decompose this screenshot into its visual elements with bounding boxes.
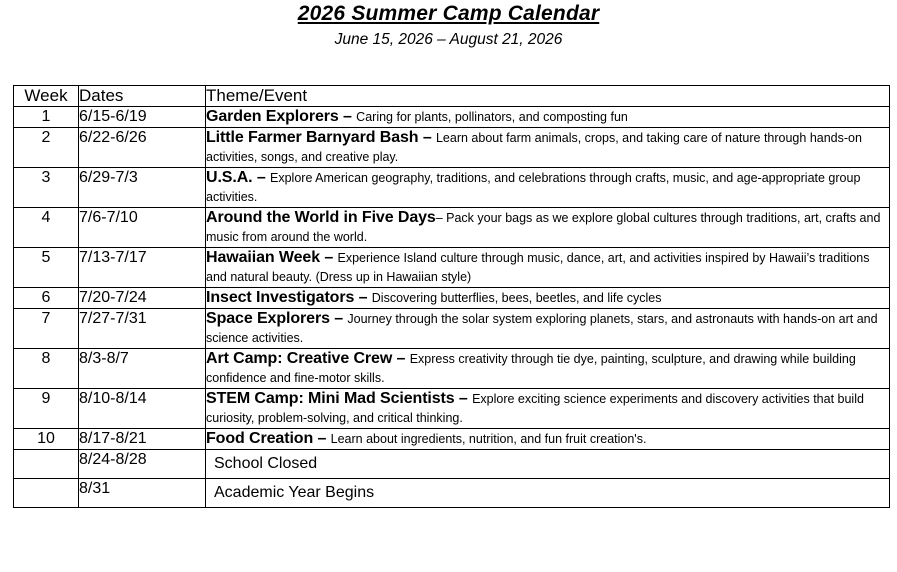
cell-week: 9 — [14, 389, 79, 429]
cell-week: 8 — [14, 349, 79, 389]
theme-description: Explore American geography, traditions, … — [206, 171, 860, 204]
theme-name: Hawaiian Week – — [206, 249, 338, 266]
column-header-dates: Dates — [79, 86, 206, 107]
cell-week: 3 — [14, 168, 79, 208]
theme-name: Insect Investigators – — [206, 289, 372, 306]
table-row: 67/20-7/24Insect Investigators – Discove… — [14, 288, 890, 309]
theme-name: Space Explorers – — [206, 310, 347, 327]
theme-name: Garden Explorers – — [206, 108, 356, 125]
table-row: 8/31Academic Year Begins — [14, 479, 890, 508]
table-row: 88/3-8/7Art Camp: Creative Crew – Expres… — [14, 349, 890, 389]
cell-dates: 8/3-8/7 — [79, 349, 206, 389]
theme-plain-text: Academic Year Begins — [214, 484, 374, 501]
theme-description: Caring for plants, pollinators, and comp… — [356, 110, 628, 124]
cell-dates: 8/10-8/14 — [79, 389, 206, 429]
cell-week: 7 — [14, 309, 79, 349]
table-row: 8/24-8/28School Closed — [14, 450, 890, 479]
cell-week — [14, 450, 79, 479]
table-row: 57/13-7/17Hawaiian Week – Experience Isl… — [14, 248, 890, 288]
cell-dates: 6/15-6/19 — [79, 107, 206, 128]
table-row: 47/6-7/10Around the World in Five Days– … — [14, 208, 890, 248]
cell-dates: 6/22-6/26 — [79, 128, 206, 168]
calendar-table-wrapper: Week Dates Theme/Event 16/15-6/19Garden … — [13, 85, 889, 508]
cell-theme: STEM Camp: Mini Mad Scientists – Explore… — [206, 389, 890, 429]
column-header-week: Week — [14, 86, 79, 107]
cell-dates: 7/27-7/31 — [79, 309, 206, 349]
cell-theme: Little Farmer Barnyard Bash – Learn abou… — [206, 128, 890, 168]
cell-theme: Insect Investigators – Discovering butte… — [206, 288, 890, 309]
cell-theme: School Closed — [206, 450, 890, 479]
cell-week: 6 — [14, 288, 79, 309]
cell-theme: Food Creation – Learn about ingredients,… — [206, 429, 890, 450]
page-subtitle: June 15, 2026 – August 21, 2026 — [0, 30, 897, 50]
cell-week: 2 — [14, 128, 79, 168]
cell-theme: U.S.A. – Explore American geography, tra… — [206, 168, 890, 208]
cell-week: 10 — [14, 429, 79, 450]
theme-name: Art Camp: Creative Crew – — [206, 350, 410, 367]
table-row: 98/10-8/14STEM Camp: Mini Mad Scientists… — [14, 389, 890, 429]
calendar-page: 2026 Summer Camp Calendar June 15, 2026 … — [0, 2, 897, 572]
cell-theme: Hawaiian Week – Experience Island cultur… — [206, 248, 890, 288]
cell-theme: Garden Explorers – Caring for plants, po… — [206, 107, 890, 128]
table-header-row: Week Dates Theme/Event — [14, 86, 890, 107]
table-row: 77/27-7/31Space Explorers – Journey thro… — [14, 309, 890, 349]
cell-dates: 8/31 — [79, 479, 206, 508]
theme-description: Discovering butterflies, bees, beetles, … — [372, 291, 662, 305]
page-title: 2026 Summer Camp Calendar — [0, 2, 897, 26]
cell-week: 5 — [14, 248, 79, 288]
summer-camp-calendar-table: Week Dates Theme/Event 16/15-6/19Garden … — [13, 85, 890, 508]
table-row: 108/17-8/21Food Creation – Learn about i… — [14, 429, 890, 450]
theme-name: STEM Camp: Mini Mad Scientists – — [206, 390, 472, 407]
cell-week: 4 — [14, 208, 79, 248]
cell-week — [14, 479, 79, 508]
cell-theme: Academic Year Begins — [206, 479, 890, 508]
cell-theme: Around the World in Five Days– Pack your… — [206, 208, 890, 248]
cell-dates: 7/6-7/10 — [79, 208, 206, 248]
cell-theme: Art Camp: Creative Crew – Express creati… — [206, 349, 890, 389]
cell-dates: 6/29-7/3 — [79, 168, 206, 208]
cell-week: 1 — [14, 107, 79, 128]
column-header-theme: Theme/Event — [206, 86, 890, 107]
table-row: 26/22-6/26Little Farmer Barnyard Bash – … — [14, 128, 890, 168]
table-row: 16/15-6/19Garden Explorers – Caring for … — [14, 107, 890, 128]
theme-plain-text: School Closed — [214, 455, 317, 472]
cell-dates: 8/17-8/21 — [79, 429, 206, 450]
theme-name: Little Farmer Barnyard Bash – — [206, 129, 436, 146]
theme-description: Learn about ingredients, nutrition, and … — [331, 432, 647, 446]
theme-name: Around the World in Five Days — [206, 209, 436, 226]
cell-theme: Space Explorers – Journey through the so… — [206, 309, 890, 349]
theme-name: Food Creation – — [206, 430, 331, 447]
table-row: 36/29-7/3U.S.A. – Explore American geogr… — [14, 168, 890, 208]
theme-name: U.S.A. – — [206, 169, 270, 186]
cell-dates: 8/24-8/28 — [79, 450, 206, 479]
cell-dates: 7/13-7/17 — [79, 248, 206, 288]
cell-dates: 7/20-7/24 — [79, 288, 206, 309]
table-body: 16/15-6/19Garden Explorers – Caring for … — [14, 107, 890, 508]
table-header: Week Dates Theme/Event — [14, 86, 890, 107]
